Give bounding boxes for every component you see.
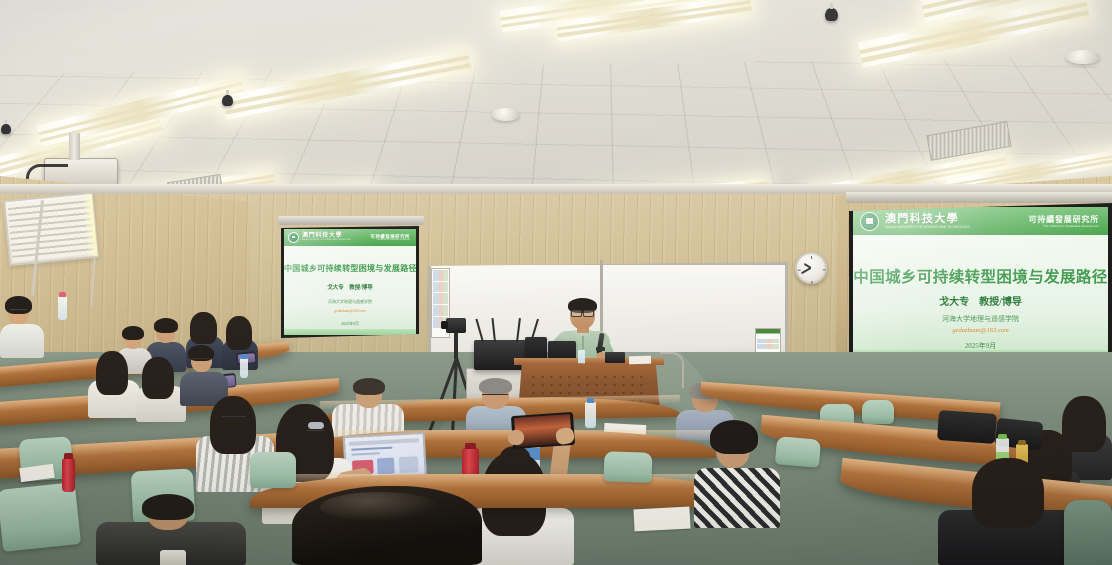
audience-person (292, 486, 482, 565)
audience-bag (937, 410, 997, 444)
person-hair (154, 318, 178, 333)
university-name-en: MACAU UNIVERSITY OF SCIENCE AND TECHNOLO… (885, 225, 970, 230)
audience-chair[interactable] (1064, 500, 1112, 565)
person-hair (190, 312, 217, 344)
audience-person (136, 358, 186, 422)
person-hair (353, 378, 385, 395)
hair-tie-icon (308, 422, 324, 429)
person-hair (226, 316, 252, 350)
person-hair (210, 396, 256, 454)
lecture-hall-photo: 澳門科技大學 MACAU UNIVERSITY OF SCIENCE AND T… (0, 0, 1112, 565)
audience-notebook (633, 507, 690, 532)
person-hair (122, 326, 144, 340)
audience-chair[interactable] (603, 451, 652, 483)
slide-footer-band (284, 329, 416, 335)
glasses-icon (193, 358, 211, 361)
glasses-icon (306, 430, 324, 435)
window-with-blinds (3, 192, 99, 266)
bottle-cap (1018, 440, 1027, 445)
person-torso (694, 468, 780, 528)
gooseneck-microphone (660, 352, 684, 388)
slide-email: gedazhuan@163.com (853, 327, 1108, 334)
person-hair (710, 420, 758, 454)
hair-highlight (320, 492, 440, 522)
slide-date: 2025年9月 (284, 321, 416, 327)
hair-bun-icon (500, 446, 530, 468)
person-hair (142, 357, 174, 399)
university-name-en: MACAU UNIVERSITY OF SCIENCE AND TECHNOLO… (302, 239, 351, 242)
audience-chair[interactable] (250, 452, 296, 488)
suspended-ceiling (0, 0, 1112, 215)
slide-speaker: 戈大专 教授/博导 (284, 283, 416, 291)
ceiling-camera-icon (222, 95, 233, 106)
slide-affiliation: 河海大学地理与遥感学院 (284, 299, 416, 305)
university-name-cn: 澳門科技大學 (302, 233, 355, 239)
slide-affiliation: 河海大学地理与遥感学院 (853, 314, 1108, 324)
audience-thermos (62, 458, 75, 492)
audience-chair[interactable] (862, 400, 894, 424)
audience-water-bottle (58, 296, 67, 320)
slide-header-band: 澳門科技大學 MACAU UNIVERSITY OF SCIENCE AND T… (853, 207, 1108, 235)
university-logo-icon (288, 232, 299, 243)
glasses-icon (222, 416, 246, 420)
right-slide: 澳門科技大學 MACAU UNIVERSITY OF SCIENCE AND T… (853, 207, 1108, 359)
glasses-icon (571, 310, 594, 315)
university-logo-icon (860, 212, 879, 231)
video-camera-icon (446, 318, 466, 333)
slide-speaker: 戈大专 教授/博导 (853, 293, 1108, 308)
bottle-cap (587, 398, 595, 403)
bottle-cap (59, 292, 65, 297)
left-screen-roller (278, 216, 424, 225)
person-hair (479, 378, 512, 394)
tripod-column (454, 333, 458, 359)
left-projection-screen[interactable]: 澳門科技大學 MACAU UNIVERSITY OF SCIENCE AND T… (281, 226, 419, 338)
wristwatch-icon (596, 347, 605, 351)
university-name-cn: 澳門科技大學 (885, 213, 970, 225)
presenter-shirt-placket (582, 336, 584, 349)
audience-person (0, 296, 44, 358)
photographer-hand (508, 430, 524, 445)
wall-clock (795, 252, 827, 284)
audience-water-bottle (585, 402, 596, 428)
institute-name-cn: 可持續發展研究所 (370, 234, 410, 239)
person-hair (96, 351, 128, 395)
bottle-cap (998, 434, 1007, 439)
audience-chair[interactable] (775, 436, 821, 468)
glasses-icon (10, 309, 27, 312)
bottle-cap (241, 354, 247, 359)
podium-control-box (605, 352, 625, 363)
left-slide: 澳門科技大學 MACAU UNIVERSITY OF SCIENCE AND T… (284, 229, 416, 335)
smoke-detector (1066, 50, 1100, 64)
person-hair (142, 494, 194, 520)
slide-email: gedazhuan@163.com (284, 309, 416, 313)
institute-name-en: The Institute for Sustainable Developmen… (1043, 224, 1099, 228)
podium-papers (629, 356, 651, 365)
audience-person (694, 420, 780, 528)
audience-chair[interactable] (0, 482, 81, 552)
smoke-detector (492, 108, 520, 121)
ceiling-camera-icon (1, 124, 11, 134)
ceiling-camera-icon (825, 8, 838, 21)
glasses-icon (482, 394, 508, 398)
slide-title: 中国城乡可持续转型困境与发展路径 (284, 263, 416, 274)
person-hair (972, 458, 1044, 528)
institute-name-en: The Institute for Sustainable Developmen… (377, 239, 410, 241)
audience-person (88, 352, 140, 418)
audience-person (938, 462, 1074, 565)
right-projection-screen[interactable]: 澳門科技大學 MACAU UNIVERSITY OF SCIENCE AND T… (849, 203, 1112, 363)
slide-title: 中国城乡可持续转型困境与发展路径 (853, 265, 1108, 287)
right-screen-roller (846, 192, 1112, 203)
window-blinds (7, 196, 94, 262)
person-torso (0, 324, 44, 358)
institute-name-cn: 可持續發展研究所 (1029, 215, 1099, 224)
audience-water-bottle (240, 358, 248, 378)
foreground-cup (160, 550, 186, 565)
slide-header-band: 澳門科技大學 MACAU UNIVERSITY OF SCIENCE AND T… (284, 229, 416, 246)
